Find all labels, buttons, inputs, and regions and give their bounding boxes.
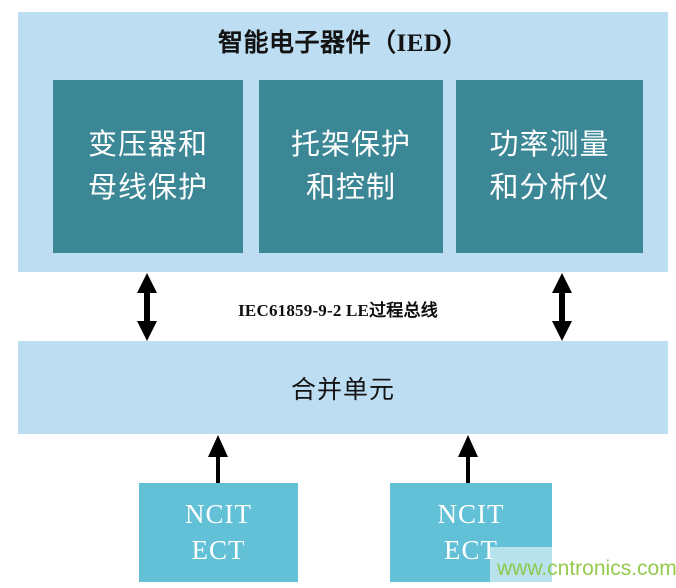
process-bus-label: IEC61859-9-2 LE过程总线	[0, 296, 676, 321]
merging-unit-panel: 合并单元	[18, 341, 668, 434]
ied-panel-title: 智能电子器件（IED）	[18, 30, 668, 58]
ied-module-line-1: 功率测量	[489, 124, 609, 166]
ied-architecture-diagram: 智能电子器件（IED） 变压器和 母线保护 托架保护 和控制 功率测量 和分析仪	[0, 0, 676, 588]
ied-module-text: 变压器和 母线保护	[88, 124, 208, 208]
sensor-line-1: NCIT	[438, 497, 505, 533]
ied-module-line-1: 变压器和	[88, 124, 208, 166]
ied-module-line-2: 和控制	[291, 167, 411, 209]
ied-module-bay-protection-control: 托架保护 和控制	[259, 80, 443, 253]
ied-module-power-measurement-analyzer: 功率测量 和分析仪	[456, 80, 643, 253]
ied-module-line-1: 托架保护	[291, 124, 411, 166]
ied-panel: 智能电子器件（IED） 变压器和 母线保护 托架保护 和控制 功率测量 和分析仪	[18, 12, 668, 272]
sensor-line-2: ECT	[192, 533, 246, 569]
ied-module-text: 托架保护 和控制	[291, 124, 411, 208]
ied-module-transformer-busbar-protection: 变压器和 母线保护	[53, 80, 243, 253]
ied-module-line-2: 母线保护	[88, 167, 208, 209]
ied-module-group: 变压器和 母线保护 托架保护 和控制 功率测量 和分析仪	[53, 80, 643, 253]
up-arrow-icon-sensor-2	[456, 435, 480, 483]
sensor-box-ncit-ect-1: NCIT ECT	[139, 483, 298, 582]
sensor-line-1: NCIT	[185, 497, 252, 533]
watermark-text: www.cntronics.com	[497, 557, 676, 581]
ied-module-text: 功率测量 和分析仪	[489, 124, 609, 208]
ied-module-line-2: 和分析仪	[489, 167, 609, 209]
merging-unit-label: 合并单元	[291, 370, 395, 406]
up-arrow-icon-sensor-1	[206, 435, 230, 483]
